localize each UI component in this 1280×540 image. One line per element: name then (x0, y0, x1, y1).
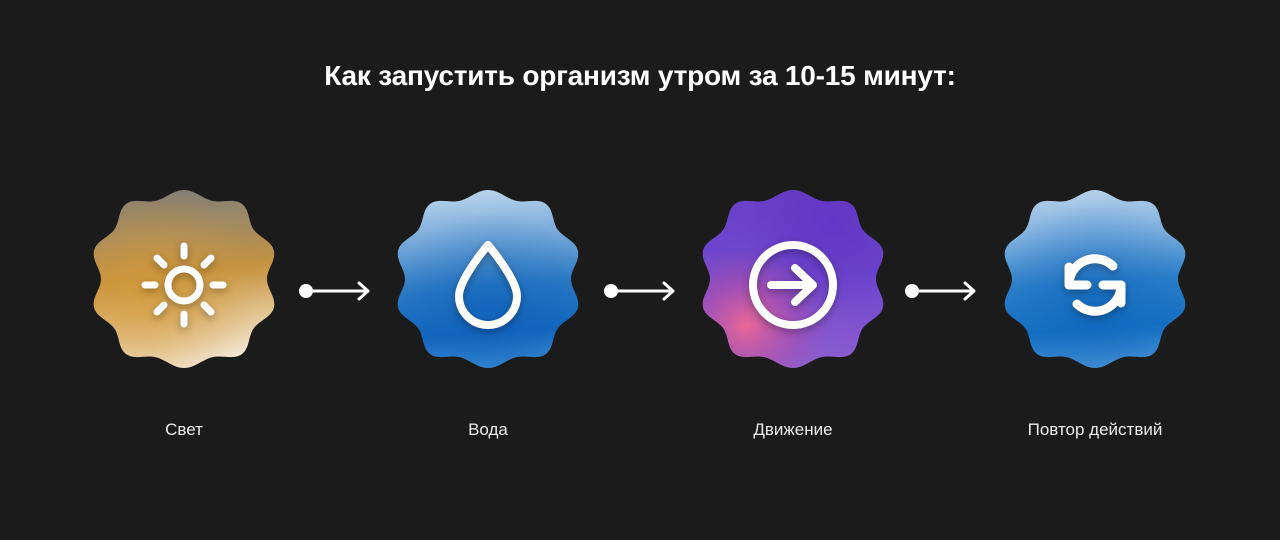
dot-arrow-icon (903, 279, 981, 303)
step-label-movement: Движение (678, 420, 908, 440)
step-badge-movement (678, 170, 908, 400)
step-label-repeat: Повтор действий (980, 420, 1210, 440)
step-item-movement[interactable]: Движение (678, 170, 908, 460)
step-badge-light (69, 170, 299, 400)
connector-1 (297, 279, 375, 303)
blob-shape-repeat (994, 188, 1196, 392)
dot-arrow-icon (297, 279, 375, 303)
step-item-light[interactable]: Свет (69, 170, 299, 460)
steps-row: Свет (0, 170, 1280, 460)
step-item-water[interactable]: Вода (373, 170, 603, 460)
blob-shape-movement (692, 188, 894, 392)
step-label-water: Вода (373, 420, 603, 440)
connector-2 (602, 279, 680, 303)
infographic-canvas: Как запустить организм утром за 10-15 ми… (0, 0, 1280, 540)
dot-arrow-icon (602, 279, 680, 303)
blob-shape-light (83, 188, 285, 392)
page-title: Как запустить организм утром за 10-15 ми… (0, 60, 1280, 92)
blob-shape-water (387, 188, 589, 392)
step-badge-repeat (980, 170, 1210, 400)
connector-3 (903, 279, 981, 303)
step-badge-water (373, 170, 603, 400)
step-label-light: Свет (69, 420, 299, 440)
step-item-repeat[interactable]: Повтор действий (980, 170, 1210, 460)
